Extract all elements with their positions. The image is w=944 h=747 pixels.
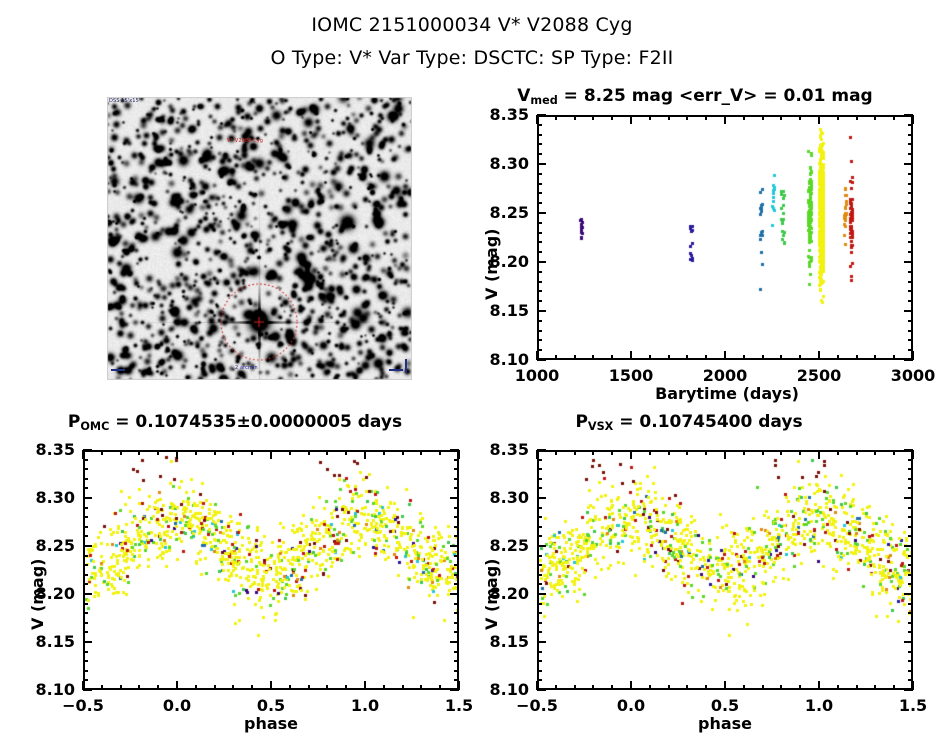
lightcurve-xtick-label: 1500 <box>586 366 676 385</box>
lightcurve-xtick-minor <box>668 355 670 360</box>
phase-omc-ytick-minor-right <box>454 679 459 681</box>
lightcurve-ytick-major-right <box>904 212 913 214</box>
finder-chart: DSS 15'x15' V* V2088 Cyg 2 arcmin <box>107 97 412 380</box>
phase-vsx-ytick-minor <box>537 507 542 509</box>
lightcurve-ytick-minor <box>537 143 542 145</box>
phase-vsx-xtick-minor-top <box>856 450 858 455</box>
phase-omc-xtick-minor-top <box>120 450 122 455</box>
phase-vsx-ytick-minor-right <box>908 622 913 624</box>
phase-vsx-title: PVSX = 0.10745400 days <box>454 412 924 432</box>
phase-omc-ytick-minor <box>83 535 88 537</box>
phase-vsx-xtick-minor-top <box>686 450 688 455</box>
phase-omc-title-rest: = 0.1074535±0.0000005 days <box>109 412 402 432</box>
phase-vsx-ytick-minor <box>537 468 542 470</box>
phase-vsx-ytick-minor <box>537 487 542 489</box>
phase-vsx-xtick-minor <box>649 685 651 690</box>
phase-omc-ytick-minor-right <box>454 487 459 489</box>
phase-vsx-ytick-minor-right <box>908 670 913 672</box>
object-type-line: O Type: V* Var Type: DSCTC: SP Type: F2I… <box>0 47 944 69</box>
phase-omc-xtick-minor <box>308 685 310 690</box>
phase-vsx-xtick-minor-top <box>762 450 764 455</box>
lightcurve-ytick-major <box>537 310 546 312</box>
phase-omc-xtick-minor-top <box>195 450 197 455</box>
phase-vsx-scatter <box>539 452 911 688</box>
phase-omc-ytick-minor <box>83 487 88 489</box>
phase-vsx-ytick-minor <box>537 516 542 518</box>
phase-omc-xtick-minor <box>195 685 197 690</box>
phase-vsx-ytick-major <box>537 449 546 451</box>
phase-omc-xtick-minor-top <box>439 450 441 455</box>
phase-vsx-ytick-label: 8.25 <box>479 536 529 555</box>
phase-vsx-title-sub: VSX <box>588 420 613 433</box>
lightcurve-xtick-label: 3000 <box>868 366 944 385</box>
phase-omc-ytick-major <box>83 449 92 451</box>
phase-vsx-xtick-label: 1.5 <box>868 696 944 715</box>
phase-omc-xtick-minor <box>326 685 328 690</box>
phase-omc-ytick-minor <box>83 516 88 518</box>
phase-vsx-ytick-minor-right <box>908 526 913 528</box>
lightcurve-xtick-minor <box>856 355 858 360</box>
phase-vsx-ytick-minor-right <box>908 612 913 614</box>
lightcurve-ytick-minor <box>537 290 542 292</box>
lightcurve-ytick-minor <box>537 281 542 283</box>
phase-vsx-ytick-minor <box>537 660 542 662</box>
phase-vsx-ytick-label: 8.30 <box>479 488 529 507</box>
lightcurve-xtick-minor-top <box>762 115 764 120</box>
lightcurve-ytick-minor-right <box>908 271 913 273</box>
lightcurve-ytick-minor <box>537 202 542 204</box>
phase-omc-ytick-minor <box>83 612 88 614</box>
phase-omc-ytick-major <box>83 689 92 691</box>
phase-omc-ytick-minor-right <box>454 555 459 557</box>
lightcurve-ytick-minor-right <box>908 192 913 194</box>
phase-vsx-ytick-minor-right <box>908 468 913 470</box>
lightcurve-x-axis-label: Barytime (days) <box>617 384 837 403</box>
phase-omc-xtick-minor-top <box>402 450 404 455</box>
phase-vsx-xtick-minor <box>874 685 876 690</box>
lightcurve-xtick-minor-top <box>574 115 576 120</box>
phase-vsx-xtick-minor-top <box>611 450 613 455</box>
phase-omc-ytick-minor <box>83 459 88 461</box>
phase-vsx-xtick-minor <box>799 685 801 690</box>
phase-vsx-ytick-minor <box>537 622 542 624</box>
lightcurve-ytick-minor-right <box>908 330 913 332</box>
phase-vsx-title-rest: = 0.10745400 days <box>613 412 802 432</box>
phase-omc-x-axis-label: phase <box>181 714 361 733</box>
lightcurve-xtick-minor-top <box>799 115 801 120</box>
phase-vsx-ytick-label: 8.10 <box>479 680 529 699</box>
phase-vsx-ytick-minor-right <box>908 679 913 681</box>
lightcurve-xtick-minor <box>705 355 707 360</box>
phase-omc-title-prefix: P <box>68 412 80 432</box>
phase-omc-xtick-major <box>270 681 272 690</box>
phase-omc-ytick-minor-right <box>454 526 459 528</box>
phase-vsx-xtick-minor-top <box>555 450 557 455</box>
lightcurve-ytick-major <box>537 212 546 214</box>
lightcurve-ytick-label: 8.15 <box>479 301 529 320</box>
phase-vsx-title-prefix: P <box>575 412 587 432</box>
phase-vsx-xtick-label: 0.0 <box>586 696 676 715</box>
phase-omc-xtick-minor-top <box>326 450 328 455</box>
lightcurve-xtick-minor <box>649 355 651 360</box>
phase-omc-xtick-minor <box>101 685 103 690</box>
phase-omc-xtick-minor-top <box>157 450 159 455</box>
phase-vsx-ytick-major-right <box>904 593 913 595</box>
finder-scale-label: 2 arcmin <box>235 365 258 371</box>
phase-vsx-plot-area <box>537 450 913 690</box>
phase-vsx-xtick-minor <box>893 685 895 690</box>
lightcurve-ytick-minor-right <box>908 339 913 341</box>
phase-omc-ytick-minor <box>83 679 88 681</box>
phase-vsx-ytick-label: 8.20 <box>479 584 529 603</box>
phase-vsx-ytick-major-right <box>904 641 913 643</box>
phase-omc-ytick-minor <box>83 478 88 480</box>
lightcurve-xtick-minor-top <box>686 115 688 120</box>
lightcurve-ytick-minor-right <box>908 222 913 224</box>
phase-omc-xtick-minor-top <box>214 450 216 455</box>
phase-omc-ytick-minor-right <box>454 507 459 509</box>
lightcurve-ytick-major <box>537 261 546 263</box>
lightcurve-xtick-minor-top <box>837 115 839 120</box>
finder-orientation-tick <box>405 359 407 373</box>
phase-vsx-xtick-minor <box>611 685 613 690</box>
phase-omc-xtick-minor-top <box>138 450 140 455</box>
phase-vsx-ytick-major <box>537 689 546 691</box>
lightcurve-xtick-minor-top <box>893 115 895 120</box>
lightcurve-xtick-minor-top <box>705 115 707 120</box>
phase-omc-ytick-minor-right <box>454 516 459 518</box>
phase-omc-ytick-major-right <box>450 545 459 547</box>
phase-vsx-xtick-minor-top <box>705 450 707 455</box>
phase-omc-xtick-minor <box>383 685 385 690</box>
lightcurve-ytick-minor-right <box>908 241 913 243</box>
lightcurve-xtick-minor <box>780 355 782 360</box>
phase-vsx-xtick-minor <box>555 685 557 690</box>
phase-omc-xtick-minor-top <box>101 450 103 455</box>
phase-omc-ytick-major <box>83 593 92 595</box>
phase-vsx-xtick-major <box>818 681 820 690</box>
phase-omc-xtick-label: 1.0 <box>320 696 410 715</box>
lightcurve-ytick-minor <box>537 339 542 341</box>
phase-omc-ytick-minor-right <box>454 478 459 480</box>
phase-omc-xtick-minor-top <box>383 450 385 455</box>
lightcurve-xtick-minor <box>555 355 557 360</box>
lightcurve-ytick-minor <box>537 271 542 273</box>
finder-scalebar-left <box>111 369 125 371</box>
lightcurve-xtick-label: 2500 <box>774 366 864 385</box>
lightcurve-xtick-minor <box>592 355 594 360</box>
lightcurve-xtick-minor-top <box>874 115 876 120</box>
lightcurve-title: Vmed = 8.25 mag <err_V> = 0.01 mag <box>450 86 940 106</box>
phase-omc-ytick-minor-right <box>454 660 459 662</box>
lightcurve-ytick-minor-right <box>908 183 913 185</box>
phase-vsx-ytick-minor <box>537 555 542 557</box>
phase-vsx-ytick-label: 8.15 <box>479 632 529 651</box>
phase-omc-ytick-minor-right <box>454 468 459 470</box>
lightcurve-xtick-minor-top <box>780 115 782 120</box>
finder-survey-label: DSS 15'x15' <box>109 98 140 104</box>
phase-vsx-xtick-minor-top <box>592 450 594 455</box>
phase-vsx-xtick-major-top <box>630 450 632 459</box>
phase-omc-xtick-minor <box>345 685 347 690</box>
phase-vsx-xtick-minor <box>668 685 670 690</box>
phase-omc-ytick-minor <box>83 583 88 585</box>
lightcurve-ytick-minor-right <box>908 153 913 155</box>
lightcurve-xtick-minor-top <box>668 115 670 120</box>
phase-vsx-ytick-minor <box>537 459 542 461</box>
phase-vsx-xtick-major <box>724 681 726 690</box>
phase-omc-ytick-major <box>83 545 92 547</box>
phase-omc-ytick-minor-right <box>454 535 459 537</box>
phase-vsx-xtick-minor-top <box>893 450 895 455</box>
phase-omc-xtick-major <box>364 681 366 690</box>
phase-omc-ytick-label: 8.25 <box>25 536 75 555</box>
phase-omc-xtick-minor-top <box>289 450 291 455</box>
phase-omc-xtick-major-top <box>176 450 178 459</box>
lightcurve-xtick-minor-top <box>555 115 557 120</box>
lightcurve-plot-area <box>537 115 913 360</box>
lightcurve-ytick-minor-right <box>908 124 913 126</box>
phase-vsx-ytick-minor <box>537 535 542 537</box>
lightcurve-ytick-minor <box>537 349 542 351</box>
lightcurve-ytick-minor <box>537 300 542 302</box>
phase-omc-ytick-minor-right <box>454 459 459 461</box>
phase-vsx-xtick-minor <box>762 685 764 690</box>
phase-vsx-ytick-minor-right <box>908 574 913 576</box>
phase-vsx-xtick-minor <box>686 685 688 690</box>
phase-vsx-xtick-minor <box>780 685 782 690</box>
lightcurve-ytick-minor-right <box>908 202 913 204</box>
lightcurve-ytick-minor <box>537 222 542 224</box>
phase-vsx-ytick-major <box>537 497 546 499</box>
phase-omc-ytick-minor <box>83 622 88 624</box>
phase-omc-xtick-minor <box>157 685 159 690</box>
phase-vsx-xtick-minor-top <box>743 450 745 455</box>
lightcurve-xtick-major-top <box>912 115 914 124</box>
lightcurve-xtick-minor <box>762 355 764 360</box>
lightcurve-xtick-minor <box>611 355 613 360</box>
phase-omc-ytick-label: 8.35 <box>25 440 75 459</box>
phase-vsx-ytick-minor-right <box>908 507 913 509</box>
phase-vsx-ytick-minor <box>537 603 542 605</box>
lightcurve-ytick-label: 8.10 <box>479 350 529 369</box>
phase-vsx-ytick-major-right <box>904 497 913 499</box>
phase-vsx-ytick-minor <box>537 583 542 585</box>
phase-vsx-ytick-minor <box>537 670 542 672</box>
phase-omc-xtick-minor <box>402 685 404 690</box>
lightcurve-xtick-major <box>818 351 820 360</box>
phase-vsx-xtick-minor <box>837 685 839 690</box>
lightcurve-xtick-minor <box>743 355 745 360</box>
phase-vsx-xtick-major <box>630 681 632 690</box>
lightcurve-ytick-major-right <box>904 359 913 361</box>
phase-vsx-xtick-label: 1.0 <box>774 696 864 715</box>
phase-omc-ytick-major <box>83 497 92 499</box>
phase-vsx-xtick-minor <box>592 685 594 690</box>
phase-vsx-ytick-minor <box>537 574 542 576</box>
lightcurve-xtick-minor-top <box>649 115 651 120</box>
phase-omc-ytick-minor-right <box>454 564 459 566</box>
phase-omc-ytick-minor-right <box>454 612 459 614</box>
lightcurve-xtick-minor <box>574 355 576 360</box>
phase-omc-ytick-label: 8.10 <box>25 680 75 699</box>
phase-omc-ytick-minor <box>83 574 88 576</box>
lightcurve-ytick-major-right <box>904 114 913 116</box>
phase-omc-ytick-minor-right <box>454 622 459 624</box>
phase-omc-xtick-major <box>176 681 178 690</box>
lightcurve-ytick-minor <box>537 320 542 322</box>
phase-vsx-ytick-minor-right <box>908 583 913 585</box>
lightcurve-xtick-minor-top <box>856 115 858 120</box>
lightcurve-ytick-minor-right <box>908 251 913 253</box>
phase-vsx-xtick-minor-top <box>780 450 782 455</box>
lightcurve-scatter <box>539 117 911 358</box>
phase-omc-ytick-minor <box>83 631 88 633</box>
lightcurve-ytick-minor-right <box>908 173 913 175</box>
phase-vsx-xtick-label: 0.5 <box>680 696 770 715</box>
lightcurve-xtick-minor <box>686 355 688 360</box>
phase-omc-ytick-label: 8.30 <box>25 488 75 507</box>
phase-omc-xtick-minor <box>439 685 441 690</box>
phase-omc-ytick-minor <box>83 670 88 672</box>
phase-omc-xtick-minor <box>251 685 253 690</box>
phase-vsx-ytick-minor-right <box>908 487 913 489</box>
lightcurve-xtick-major-top <box>536 115 538 124</box>
phase-omc-ytick-minor-right <box>454 574 459 576</box>
lightcurve-xtick-minor-top <box>592 115 594 120</box>
phase-vsx-ytick-minor-right <box>908 555 913 557</box>
phase-vsx-xtick-minor-top <box>649 450 651 455</box>
lightcurve-xtick-major-top <box>630 115 632 124</box>
lightcurve-ytick-minor <box>537 173 542 175</box>
phase-vsx-xtick-minor-top <box>874 450 876 455</box>
phase-vsx-xtick-minor-top <box>799 450 801 455</box>
phase-vsx-ytick-minor <box>537 526 542 528</box>
lightcurve-ytick-major <box>537 163 546 165</box>
lightcurve-ytick-minor <box>537 153 542 155</box>
lightcurve-ytick-label: 8.20 <box>479 252 529 271</box>
phase-vsx-ytick-minor-right <box>908 651 913 653</box>
phase-omc-ytick-minor <box>83 555 88 557</box>
lightcurve-ytick-minor-right <box>908 300 913 302</box>
phase-vsx-ytick-minor <box>537 651 542 653</box>
lightcurve-xtick-major <box>724 351 726 360</box>
lightcurve-ytick-major-right <box>904 261 913 263</box>
phase-omc-ytick-minor-right <box>454 670 459 672</box>
lightcurve-ytick-minor-right <box>908 349 913 351</box>
phase-vsx-ytick-minor-right <box>908 660 913 662</box>
phase-omc-ytick-label: 8.15 <box>25 632 75 651</box>
page-title: IOMC 2151000034 V* V2088 Cyg <box>0 14 944 36</box>
phase-vsx-ytick-minor-right <box>908 535 913 537</box>
phase-vsx-xtick-minor-top <box>837 450 839 455</box>
phase-omc-ytick-minor <box>83 651 88 653</box>
phase-omc-xtick-minor <box>214 685 216 690</box>
phase-omc-xtick-label: 0.5 <box>226 696 316 715</box>
finder-target-label: V* V2088 Cyg <box>227 138 263 144</box>
lightcurve-xtick-minor <box>893 355 895 360</box>
phase-vsx-ytick-minor <box>537 564 542 566</box>
phase-omc-xtick-minor-top <box>251 450 253 455</box>
phase-omc-xtick-minor <box>138 685 140 690</box>
lightcurve-ytick-label: 8.30 <box>479 154 529 173</box>
phase-vsx-ytick-major-right <box>904 545 913 547</box>
phase-omc-ytick-minor <box>83 564 88 566</box>
phase-omc-ytick-label: 8.20 <box>25 584 75 603</box>
lightcurve-title-rest: = 8.25 mag <err_V> = 0.01 mag <box>558 86 873 106</box>
phase-vsx-ytick-label: 8.35 <box>479 440 529 459</box>
lightcurve-ytick-minor <box>537 192 542 194</box>
phase-omc-ytick-minor-right <box>454 603 459 605</box>
phase-vsx-ytick-major-right <box>904 689 913 691</box>
phase-omc-ytick-major-right <box>450 497 459 499</box>
phase-omc-ytick-major <box>83 641 92 643</box>
phase-omc-ytick-minor-right <box>454 651 459 653</box>
phase-vsx-xtick-major-top <box>818 450 820 459</box>
phase-omc-ytick-major-right <box>450 689 459 691</box>
lightcurve-ytick-minor <box>537 124 542 126</box>
lightcurve-xtick-minor-top <box>611 115 613 120</box>
lightcurve-ytick-major-right <box>904 310 913 312</box>
phase-vsx-ytick-major <box>537 641 546 643</box>
phase-omc-ytick-minor <box>83 507 88 509</box>
phase-omc-ytick-minor-right <box>454 583 459 585</box>
phase-omc-title: POMC = 0.1074535±0.0000005 days <box>0 412 470 432</box>
lightcurve-ytick-minor <box>537 251 542 253</box>
lightcurve-ytick-major-right <box>904 163 913 165</box>
phase-vsx-ytick-minor <box>537 631 542 633</box>
phase-vsx-ytick-minor-right <box>908 564 913 566</box>
phase-omc-plot-area <box>83 450 459 690</box>
lightcurve-ytick-minor <box>537 232 542 234</box>
lightcurve-ytick-major <box>537 114 546 116</box>
lightcurve-xtick-minor <box>799 355 801 360</box>
lightcurve-ytick-minor-right <box>908 143 913 145</box>
phase-omc-xtick-major-top <box>364 450 366 459</box>
phase-vsx-xtick-minor-top <box>668 450 670 455</box>
phase-omc-ytick-major-right <box>450 593 459 595</box>
lightcurve-xtick-minor <box>874 355 876 360</box>
lightcurve-ytick-label: 8.35 <box>479 105 529 124</box>
lightcurve-ytick-minor-right <box>908 320 913 322</box>
phase-omc-xtick-minor-top <box>420 450 422 455</box>
lightcurve-xtick-label: 2000 <box>680 366 770 385</box>
phase-omc-ytick-minor <box>83 660 88 662</box>
phase-vsx-ytick-minor <box>537 679 542 681</box>
phase-vsx-ytick-minor-right <box>908 631 913 633</box>
phase-omc-xtick-minor-top <box>308 450 310 455</box>
phase-omc-ytick-minor <box>83 526 88 528</box>
lightcurve-xtick-minor-top <box>743 115 745 120</box>
lightcurve-ytick-minor <box>537 183 542 185</box>
phase-omc-ytick-minor-right <box>454 631 459 633</box>
iomc-figure: IOMC 2151000034 V* V2088 Cyg O Type: V* … <box>0 0 944 747</box>
finder-scalebar-right <box>389 369 403 371</box>
phase-omc-ytick-minor <box>83 603 88 605</box>
phase-omc-xtick-minor <box>289 685 291 690</box>
lightcurve-ytick-minor <box>537 241 542 243</box>
phase-omc-ytick-major-right <box>450 641 459 643</box>
phase-omc-scatter <box>85 452 457 688</box>
phase-vsx-xtick-major-top <box>724 450 726 459</box>
phase-vsx-xtick-minor <box>743 685 745 690</box>
phase-vsx-ytick-minor-right <box>908 478 913 480</box>
phase-vsx-xtick-minor <box>856 685 858 690</box>
phase-omc-xtick-minor <box>420 685 422 690</box>
lightcurve-xtick-major-top <box>818 115 820 124</box>
phase-vsx-ytick-minor-right <box>908 459 913 461</box>
lightcurve-ytick-minor-right <box>908 134 913 136</box>
